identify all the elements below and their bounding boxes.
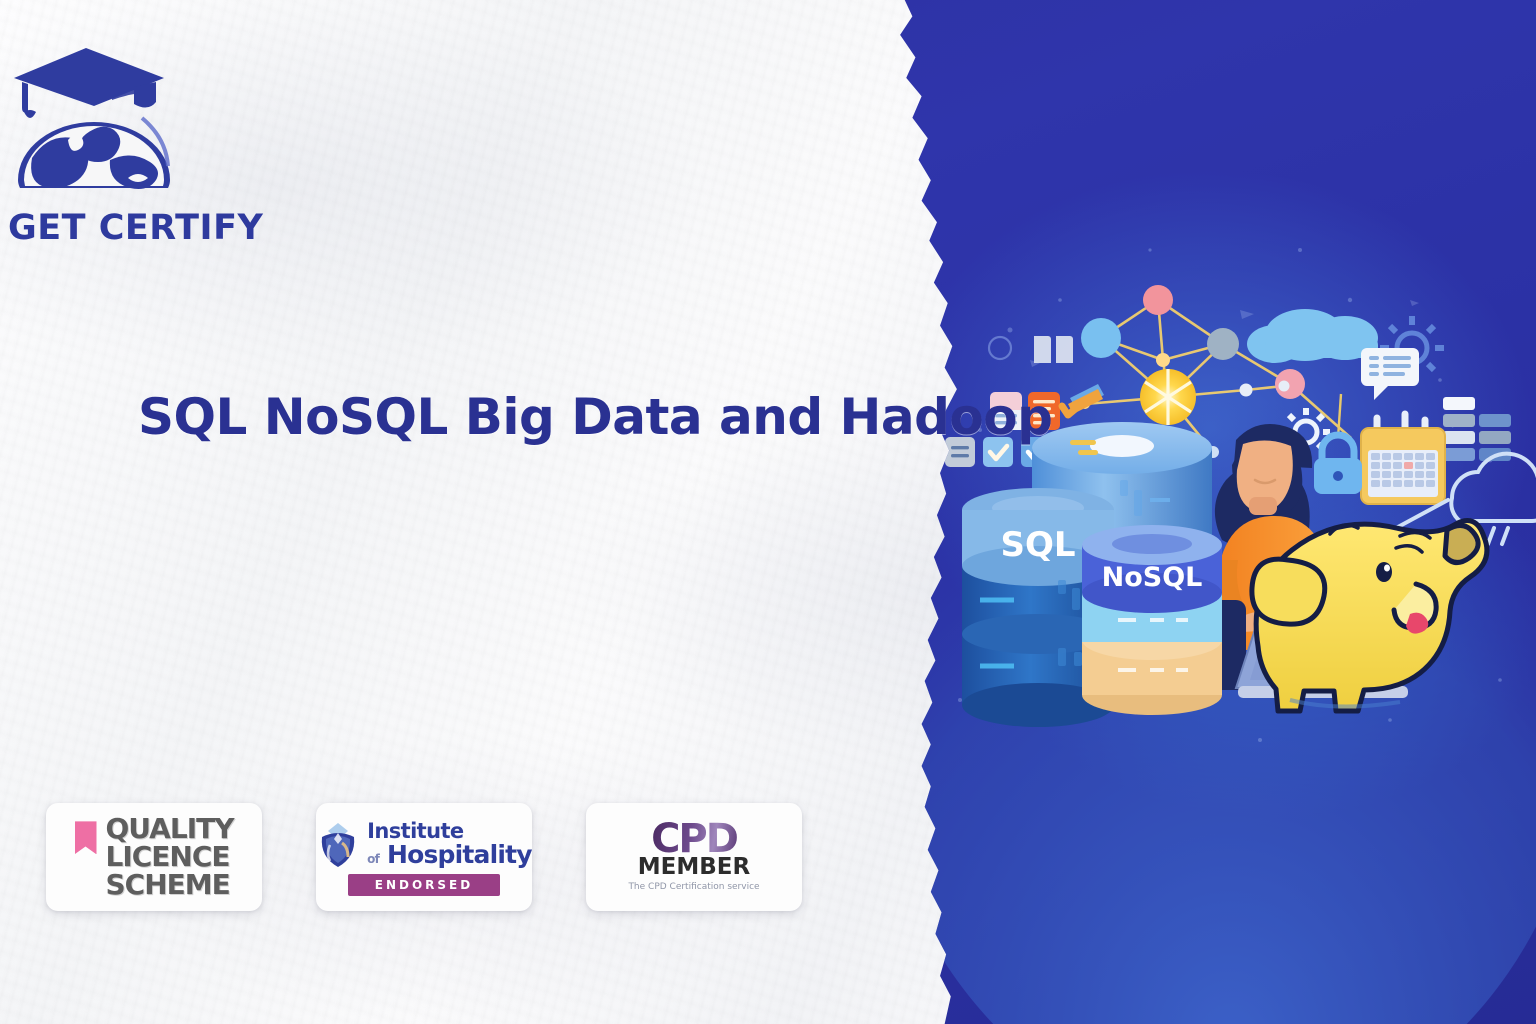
- node-small-white: [1240, 384, 1253, 397]
- nosql-database-cylinder: NoSQL: [1082, 525, 1222, 715]
- cpd-subtitle: The CPD Certification service: [628, 882, 759, 892]
- node-small-white-2: [1279, 381, 1290, 392]
- svg-text:SQL: SQL: [1000, 525, 1075, 565]
- brand-logo[interactable]: GET CERTIFY: [2, 30, 197, 225]
- accreditation-badges: QUALITY LICENCE SCHEME: [46, 803, 802, 911]
- pink-ribbon-icon: [75, 821, 97, 854]
- calendar-icon: [1361, 414, 1445, 504]
- poster-canvas: SQL: [0, 0, 1536, 1024]
- elephant-eye: [1376, 562, 1392, 582]
- graduation-cap-globe-icon: [2, 30, 197, 225]
- svg-text:NoSQL: NoSQL: [1102, 562, 1203, 593]
- qls-line-2: LICENCE: [106, 843, 234, 871]
- ioh-of: of: [367, 852, 379, 866]
- qls-line-3: SCHEME: [106, 871, 234, 899]
- node-blue: [1081, 318, 1121, 358]
- ioh-endorsed-banner: ENDORSED: [348, 874, 500, 896]
- ioh-line-2: Hospitality: [387, 840, 532, 869]
- qls-line-1: QUALITY: [106, 815, 234, 843]
- node-pink: [1143, 285, 1173, 315]
- brand-logo-text: GET CERTIFY: [8, 208, 198, 248]
- badge-quality-licence-scheme[interactable]: QUALITY LICENCE SCHEME: [46, 803, 262, 911]
- ring-decoration: [989, 337, 1011, 359]
- institute-crest-icon: [316, 819, 360, 869]
- ioh-line-1: Institute: [367, 821, 532, 842]
- node-gray: [1207, 328, 1239, 360]
- cpd-member-label: MEMBER: [638, 856, 750, 879]
- cpd-mark: CPD: [651, 821, 737, 858]
- badge-cpd-member[interactable]: CPD MEMBER The CPD Certification service: [586, 803, 802, 911]
- page-title: SQL NoSQL Big Data and Hadoop: [138, 388, 1052, 446]
- badge-institute-of-hospitality[interactable]: Institute of Hospitality ENDORSED: [316, 803, 532, 911]
- node-small-yellow: [1156, 353, 1170, 367]
